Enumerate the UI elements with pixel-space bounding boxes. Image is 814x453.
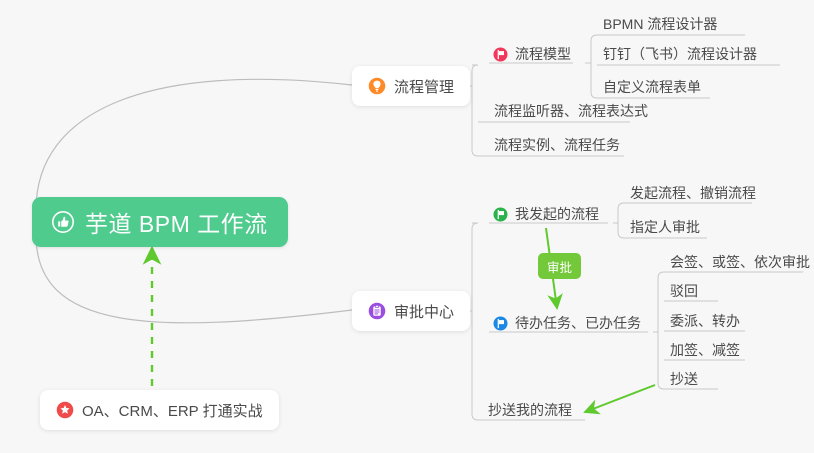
clipboard-icon [368,302,386,320]
leaf-custom-form-label: 自定义流程表单 [603,77,701,97]
leaf-delegate-transfer[interactable]: 委派、转办 [664,309,746,335]
spine-process-mgmt [472,65,478,156]
thumbs-up-icon [52,211,74,233]
leaf-dingtalk-designer-label: 钉钉（飞书）流程设计器 [603,44,757,64]
leaf-reject-label: 驳回 [670,281,698,301]
leaf-bpmn-designer[interactable]: BPMN 流程设计器 [597,12,723,38]
root-node[interactable]: 芋道 BPM 工作流 [32,197,288,247]
leaf-assignee-approval-label: 指定人审批 [630,217,700,237]
node-instance-task-label: 流程实例、流程任务 [494,135,620,155]
branch-process-management[interactable]: 流程管理 [352,66,470,106]
root-label: 芋道 BPM 工作流 [85,205,268,239]
flag-icon [493,207,508,222]
node-listener-expression-label: 流程监听器、流程表达式 [494,101,648,121]
leaf-start-cancel-flow-label: 发起流程、撤销流程 [630,183,756,203]
node-todo-done-tasks-label: 待办任务、已办任务 [515,313,641,333]
node-cc-to-me-flows[interactable]: 抄送我的流程 [482,398,578,424]
annotation-badge-approval: 审批 [538,253,581,279]
footnote-node[interactable]: OA、CRM、ERP 打通实战 [40,390,279,430]
node-listener-expression[interactable]: 流程监听器、流程表达式 [488,99,654,125]
link-root-to-approval-center [36,235,352,323]
spine-approval [472,223,478,420]
node-instance-task[interactable]: 流程实例、流程任务 [488,133,626,159]
leaf-assignee-approval[interactable]: 指定人审批 [624,215,706,241]
node-todo-done-tasks[interactable]: 待办任务、已办任务 [489,311,647,337]
node-my-initiated-flows-label: 我发起的流程 [515,204,599,224]
leaf-countersign-label: 会签、或签、依次审批 [670,252,810,272]
footnote-label: OA、CRM、ERP 打通实战 [82,400,263,421]
link-root-to-process-mgmt [36,79,352,210]
node-cc-to-me-flows-label: 抄送我的流程 [488,400,572,420]
flag-icon [493,47,508,62]
leaf-dingtalk-designer[interactable]: 钉钉（飞书）流程设计器 [597,42,763,68]
branch-process-management-label: 流程管理 [394,76,454,97]
branch-approval-center[interactable]: 审批中心 [352,291,470,331]
branch-approval-center-label: 审批中心 [394,301,454,322]
leaf-cc[interactable]: 抄送 [664,367,704,393]
mindmap-canvas: 芋道 BPM 工作流 OA、CRM、ERP 打通实战 流程管理 [0,0,814,453]
flag-icon [493,316,508,331]
node-process-model-label: 流程模型 [515,44,571,64]
node-my-initiated-flows[interactable]: 我发起的流程 [489,202,605,228]
lightbulb-icon [368,77,386,95]
arrow-cc-to-cc-mine [585,385,655,412]
leaf-countersign[interactable]: 会签、或签、依次审批 [664,250,814,276]
leaf-bpmn-designer-label: BPMN 流程设计器 [603,14,717,34]
star-icon [56,401,74,419]
node-process-model[interactable]: 流程模型 [489,42,577,68]
leaf-delegate-transfer-label: 委派、转办 [670,311,740,331]
leaf-start-cancel-flow[interactable]: 发起流程、撤销流程 [624,181,762,207]
leaf-custom-form[interactable]: 自定义流程表单 [597,75,707,101]
leaf-add-remove-sign[interactable]: 加签、减签 [664,338,746,364]
leaf-reject[interactable]: 驳回 [664,279,704,305]
leaf-add-remove-sign-label: 加签、减签 [670,340,740,360]
leaf-cc-label: 抄送 [670,369,698,389]
annotation-badge-approval-label: 审批 [547,257,572,276]
